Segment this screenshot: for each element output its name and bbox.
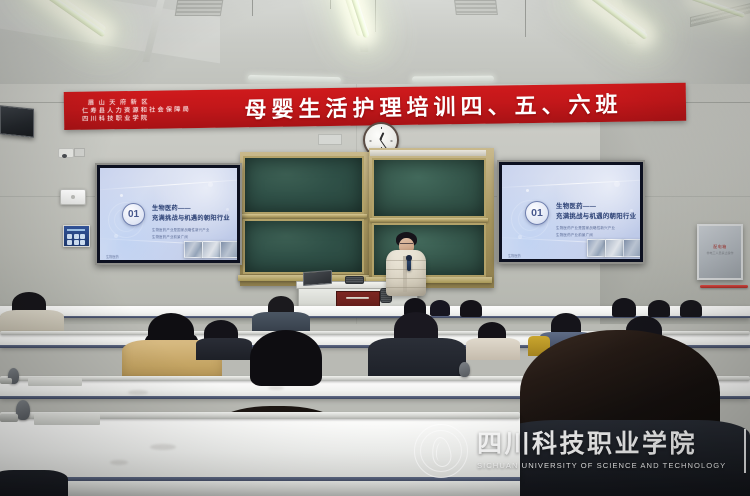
electrical-box-label: 配电箱 bbox=[699, 244, 741, 250]
banner-org-line-3: 四川科技职业学院 bbox=[82, 114, 191, 123]
seat-post bbox=[0, 378, 12, 384]
security-camera bbox=[58, 148, 74, 158]
audience-head bbox=[680, 300, 702, 317]
slide-title-line-1: 生物医药—— bbox=[556, 201, 596, 210]
banner-organizers: 眉山天府新区 仁寿县人力资源和社会保障局 四川科技职业学院 bbox=[64, 98, 191, 123]
lamp-rod bbox=[330, 0, 331, 9]
desk-block bbox=[34, 414, 100, 425]
slide-image bbox=[202, 241, 221, 258]
microphone-head bbox=[406, 255, 412, 261]
lamp-rod bbox=[375, 0, 376, 32]
banner-title: 母婴生活护理培训四、五、六班 bbox=[191, 86, 686, 125]
slide-subtitle-line-1: 生物医药产业是国家战略性新兴产业 bbox=[556, 226, 615, 231]
desk-front-panel bbox=[0, 481, 520, 496]
fluorescent-lamp-off bbox=[248, 75, 341, 83]
audience-head bbox=[648, 300, 670, 317]
slide-image bbox=[220, 241, 237, 258]
console-equipment bbox=[345, 276, 364, 284]
ceiling-vent bbox=[454, 0, 498, 15]
slide-title-line-2: 充满挑战与机遇的朝阳行业 bbox=[152, 213, 230, 222]
desk-block bbox=[28, 378, 82, 386]
slide-title-line-1: 生物医药—— bbox=[152, 203, 191, 212]
presenter-glasses bbox=[400, 243, 413, 247]
slide-image bbox=[587, 239, 606, 257]
slide-brand: 生物医药 bbox=[106, 254, 119, 259]
audience-head bbox=[250, 330, 322, 386]
audience-head bbox=[430, 300, 450, 316]
projection-screen-left: 01 生物医药—— 充满挑战与机遇的朝阳行业 生物医药产业是国家战略性新兴产业 … bbox=[95, 163, 242, 265]
seat-post bbox=[0, 414, 18, 422]
blackboard-panel bbox=[372, 158, 486, 218]
slide-image bbox=[623, 239, 640, 257]
slide-subtitle-line-1: 生物医药产业是国家战略性新兴产业 bbox=[152, 227, 209, 232]
lecture-desk bbox=[0, 418, 520, 480]
slide-content: 01 生物医药—— 充满挑战与机遇的朝阳行业 生物医药产业是国家战略性新兴产业 … bbox=[502, 165, 640, 259]
blackboard-panel bbox=[243, 219, 364, 274]
console-monitor bbox=[303, 270, 332, 286]
wifi-access-point bbox=[60, 189, 86, 205]
projector-mount bbox=[74, 148, 85, 157]
photo-scene: 眉山天府新区 仁寿县人力资源和社会保障局 四川科技职业学院 母婴生活护理培训四、… bbox=[0, 0, 750, 496]
av-control-panel bbox=[63, 225, 90, 247]
slide-number: 01 bbox=[525, 201, 549, 225]
ceiling-vent bbox=[175, 0, 224, 16]
blackboard-rail bbox=[241, 214, 367, 218]
foreground-audience-body bbox=[0, 470, 68, 496]
electrical-box-warning: 非电工人员禁止操作 bbox=[699, 251, 741, 255]
slide-content: 01 生物医药—— 充满挑战与机遇的朝阳行业 生物医药产业是国家战略性新兴产业 … bbox=[100, 168, 237, 260]
projection-screen-right: 01 生物医药—— 充满挑战与机遇的朝阳行业 生物医药产业是国家战略性新兴产业 … bbox=[497, 160, 645, 264]
red-pipe bbox=[700, 285, 748, 288]
slide-subtitle-line-2: 生物医药产业前景广阔 bbox=[556, 233, 593, 238]
blackboard-slide-track bbox=[370, 150, 486, 156]
audience-head bbox=[612, 298, 636, 317]
blackboard-panel bbox=[243, 156, 364, 214]
seat-handle bbox=[459, 362, 470, 377]
wall-monitor bbox=[0, 105, 34, 138]
audience-body bbox=[196, 338, 252, 360]
slide-title-line-2: 充满挑战与机遇的朝阳行业 bbox=[556, 211, 636, 220]
lamp-rod bbox=[525, 0, 526, 37]
fluorescent-lamp-off bbox=[412, 76, 494, 83]
slide-brand: 生物医药 bbox=[508, 253, 521, 258]
foreground-audience-body bbox=[490, 420, 750, 496]
lamp-rod bbox=[252, 0, 253, 16]
blackboard-rail bbox=[370, 218, 488, 222]
wall-sign bbox=[318, 134, 342, 145]
audience-head bbox=[460, 300, 482, 317]
slide-subtitle-line-2: 生物医药产业前景广阔 bbox=[152, 234, 188, 239]
seat-handle bbox=[16, 400, 30, 420]
slide-image bbox=[184, 241, 203, 258]
electrical-distribution-box: 配电箱 非电工人员禁止操作 bbox=[697, 224, 743, 280]
slide-number: 01 bbox=[122, 203, 145, 226]
slide-image bbox=[605, 239, 624, 257]
audience-body bbox=[466, 338, 520, 360]
